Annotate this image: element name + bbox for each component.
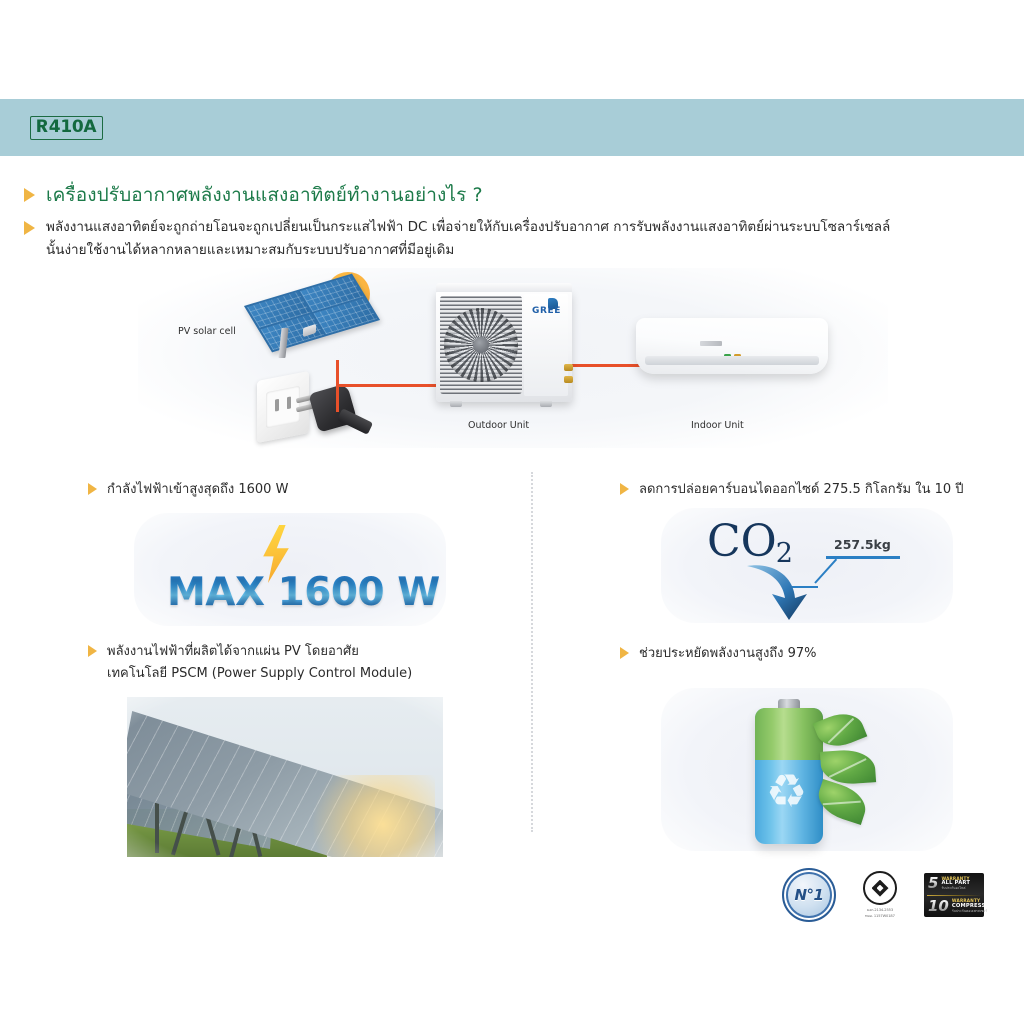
triangle-bullet-icon <box>24 221 35 235</box>
outdoor-unit-grille <box>440 296 522 394</box>
section-heading: เครื่องปรับอากาศพลังงานแสงอาทิตย์ทำงานอย… <box>24 180 483 210</box>
feature-bullet-pscm-text: พลังงานไฟฟ้าที่ผลิตได้จากแผ่น PV โดยอาศั… <box>107 641 412 685</box>
outdoor-unit-valve <box>564 376 573 383</box>
co2-reduction-card: CO2 257.5kg <box>661 508 953 623</box>
outdoor-unit-label: Outdoor Unit <box>468 420 529 431</box>
battery-charge-level <box>755 708 823 760</box>
warranty-note-parts: รับประกันอะไหล่ <box>941 887 970 891</box>
header-band <box>0 99 1024 156</box>
outdoor-unit-graphic: GREE <box>436 290 572 402</box>
brochure-page: Я410A เครื่องปรับอากาศพลังงานแสงอาทิตย์ท… <box>0 0 1024 1024</box>
co2-value-underline <box>826 556 900 559</box>
indoor-unit-label: Indoor Unit <box>691 420 744 431</box>
warranty-text-parts: WARRANTY ALL PART รับประกันอะไหล่ <box>941 877 970 891</box>
warranty-badge: 5 WARRANTY ALL PART รับประกันอะไหล่ 10 W… <box>924 873 984 917</box>
outdoor-unit-fan-hub <box>473 337 489 353</box>
feature-bullet-energy-saving: ช่วยประหยัดพลังงานสูงถึง 97% <box>620 643 817 665</box>
warranty-note-compressor: รับประกันคอมเพรสเซอร์ <box>952 910 994 914</box>
triangle-bullet-icon <box>88 483 97 495</box>
outdoor-unit-valve <box>564 364 573 371</box>
outdoor-unit-top-cover <box>436 283 572 292</box>
tis-standard-text: มอก.2134-2553 ทมอ. 1157W0187 <box>858 908 902 919</box>
feature-bullet-max-power: กำลังไฟฟ้าเข้าสูงสุดถึง 1600 W <box>88 479 288 501</box>
outdoor-unit-foot <box>540 401 552 407</box>
column-divider <box>531 472 533 832</box>
intro-line-1: พลังงานแสงอาทิตย์จะถูกถ่ายโอนจะถูกเปลี่ย… <box>46 219 890 235</box>
no1-award-badge: N°1 <box>782 868 836 922</box>
photo-sun-glare <box>305 775 435 857</box>
refrigerant-badge: Я410A <box>30 116 103 140</box>
outdoor-unit-foot <box>450 401 462 407</box>
warranty-text-compressor: WARRANTY COMPRESSOR รับประกันคอมเพรสเซอร… <box>952 899 994 913</box>
socket-slot <box>275 399 279 412</box>
no1-award-label: N°1 <box>795 886 824 904</box>
warranty-years-compressor: 10 <box>927 899 949 914</box>
intro-line-2: นั้นง่ายใช้งานได้หลากหลายและเหมาะสมกับระ… <box>46 242 454 258</box>
indoor-unit-graphic <box>636 318 828 374</box>
section-heading-text: เครื่องปรับอากาศพลังงานแสงอาทิตย์ทำงานอย… <box>46 180 483 210</box>
socket-face <box>266 386 300 429</box>
feature-bullet-co2-text: ลดการปล่อยคาร์บอนไดออกไซด์ 275.5 กิโลกรั… <box>639 479 964 501</box>
refrigerant-r-glyph: Я <box>36 119 49 136</box>
indoor-unit-brand-strip <box>700 341 722 346</box>
warranty-separator <box>927 895 981 896</box>
warranty-row-parts: 5 WARRANTY ALL PART รับประกันอะไหล่ <box>927 876 981 892</box>
battery-icon: ♻ <box>755 708 823 844</box>
feature-bullet-max-power-text: กำลังไฟฟ้าเข้าสูงสุดถึง 1600 W <box>107 479 288 501</box>
max-power-card: MAX 1600 W <box>134 513 446 626</box>
intro-paragraph-text: พลังงานแสงอาทิตย์จะถูกถ่ายโอนจะถูกเปลี่ย… <box>46 216 890 262</box>
certification-badges: N°1 มอก.2134-2553 ทมอ. 1157W0187 5 WARRA… <box>782 868 984 922</box>
recycle-icon: ♻ <box>766 768 807 814</box>
tis-line-2: ทมอ. 1157W0187 <box>858 914 902 919</box>
refrigerant-badge-label: 410A <box>49 117 96 137</box>
co2-value-label: 257.5kg <box>834 537 891 552</box>
feature-bullet-pscm: พลังงานไฟฟ้าที่ผลิตได้จากแผ่น PV โดยอาศั… <box>88 641 412 685</box>
max-power-label: MAX 1600 W <box>167 570 440 615</box>
warranty-row-compressor: 10 WARRANTY COMPRESSOR รับประกันคอมเพรสเ… <box>927 899 981 915</box>
triangle-bullet-icon <box>620 647 629 659</box>
socket-slot <box>287 396 291 409</box>
pscm-line-2: เทคโนโลยี PSCM (Power Supply Control Mod… <box>107 666 412 681</box>
triangle-bullet-icon <box>24 188 35 202</box>
tis-mark-icon <box>863 871 897 905</box>
triangle-bullet-icon <box>88 645 97 657</box>
pv-solar-cell-label: PV solar cell <box>178 326 236 337</box>
co2-down-arrow-icon <box>745 560 817 622</box>
co2-leader-line <box>814 559 837 584</box>
pscm-line-1: พลังงานไฟฟ้าที่ผลิตได้จากแผ่น PV โดยอาศั… <box>107 644 359 659</box>
pv-panel-icon <box>244 274 380 353</box>
tis-standard-badge: มอก.2134-2553 ทมอ. 1157W0187 <box>858 871 902 919</box>
feature-bullet-energy-saving-text: ช่วยประหยัดพลังงานสูงถึง 97% <box>639 643 817 665</box>
indoor-unit-air-vent <box>645 356 819 365</box>
solar-farm-photo <box>127 697 443 857</box>
warranty-years-parts: 5 <box>927 876 938 891</box>
brand-label: GREE <box>532 306 561 316</box>
intro-paragraph: พลังงานแสงอาทิตย์จะถูกถ่ายโอนจะถูกเปลี่ย… <box>24 216 964 262</box>
eco-battery-card: ♻ <box>661 688 953 851</box>
system-diagram: PV solar cell <box>138 268 888 448</box>
feature-bullet-co2: ลดการปล่อยคาร์บอนไดออกไซด์ 275.5 กิโลกรั… <box>620 479 964 501</box>
triangle-bullet-icon <box>620 483 629 495</box>
